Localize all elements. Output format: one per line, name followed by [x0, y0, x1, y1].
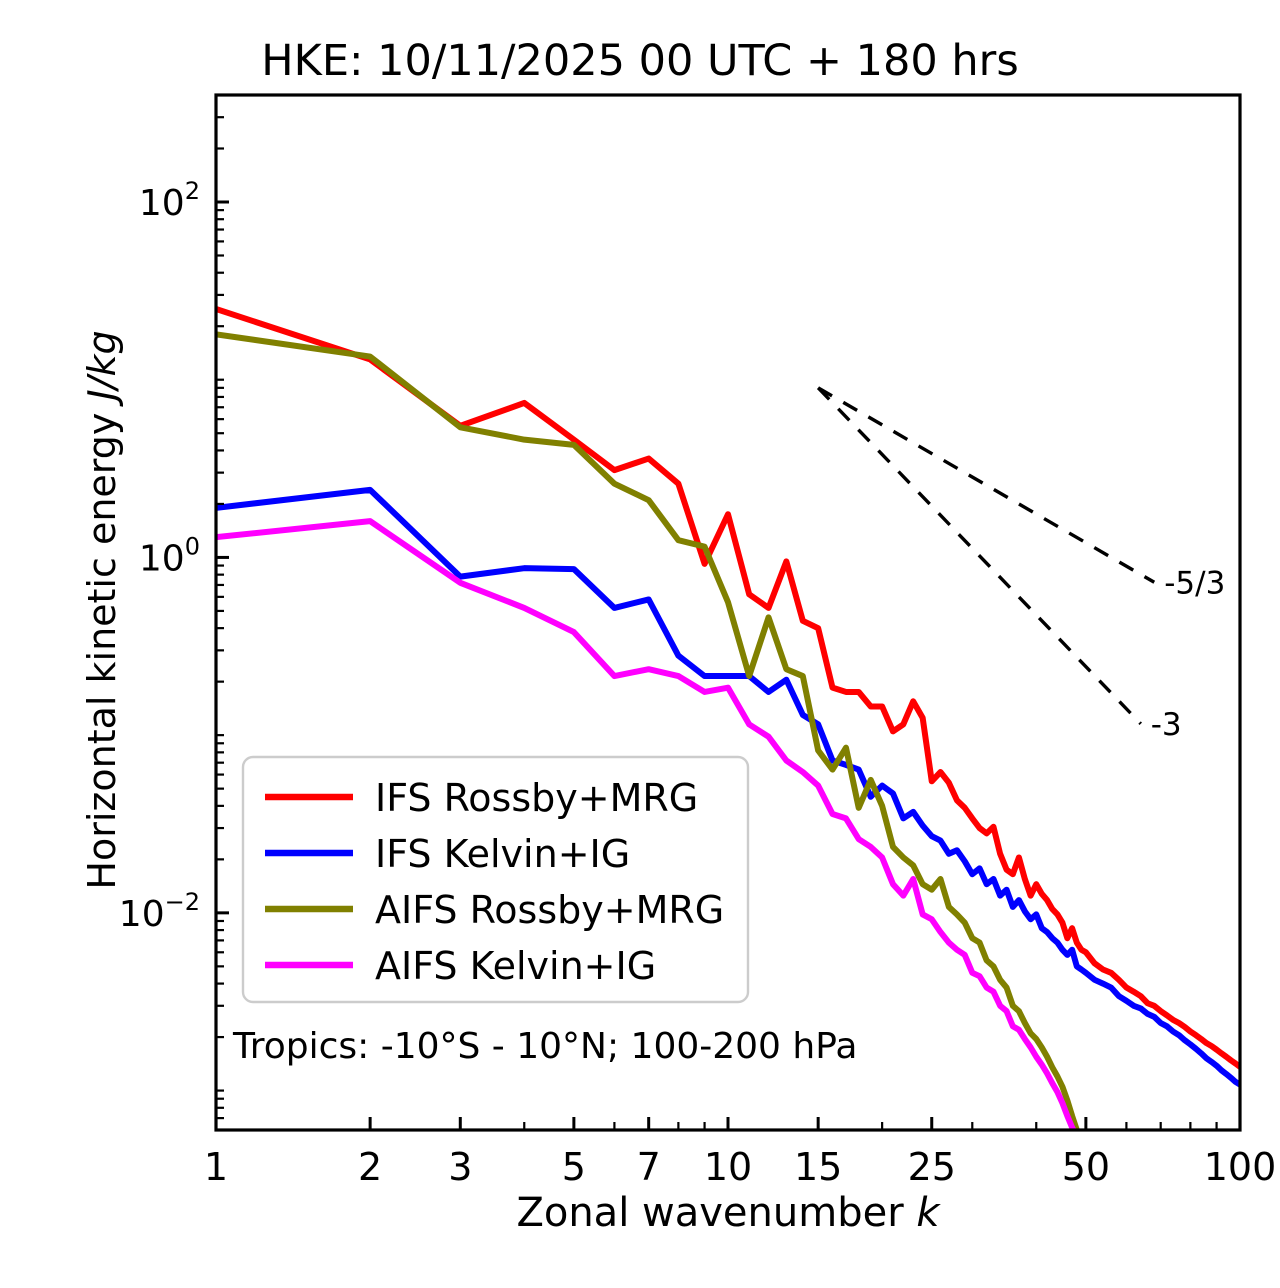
axes-group: 123571015255010010−2100102: [119, 95, 1276, 1189]
x-tick-label: 50: [1062, 1145, 1110, 1189]
reference-slope-group: -5/3-3: [818, 388, 1225, 743]
x-tick-label: 100: [1204, 1145, 1277, 1189]
reference-slope-label-0: -5/3: [1164, 565, 1225, 601]
x-tick-label: 5: [562, 1145, 586, 1189]
x-tick-label: 25: [908, 1145, 956, 1189]
chart-legend: IFS Rossby+MRGIFS Kelvin+IGAIFS Rossby+M…: [243, 757, 748, 1002]
y-tick-label: 102: [139, 177, 200, 224]
x-tick-label: 7: [637, 1145, 661, 1189]
x-tick-label: 1: [204, 1145, 228, 1189]
y-tick-label: 100: [139, 532, 200, 579]
x-tick-label: 15: [794, 1145, 842, 1189]
plot-area: -5/3-3 123571015255010010−2100102 IFS Ro…: [0, 0, 1280, 1288]
reference-slope-line--5-3: [818, 388, 1154, 582]
chart-figure: HKE: 10/11/2025 00 UTC + 180 hrs Horizon…: [0, 0, 1280, 1288]
region-annotation: Tropics: -10°S - 10°N; 100-200 hPa: [232, 1026, 857, 1067]
legend-label-1: IFS Kelvin+IG: [375, 832, 630, 876]
x-tick-label: 2: [358, 1145, 382, 1189]
reference-slope-line--3: [818, 388, 1141, 724]
reference-slope-label-1: -3: [1151, 707, 1182, 743]
legend-label-3: AIFS Kelvin+IG: [375, 944, 656, 988]
x-tick-label: 3: [448, 1145, 472, 1189]
region-annotation-text: Tropics: -10°S - 10°N; 100-200 hPa: [232, 1026, 857, 1067]
legend-label-0: IFS Rossby+MRG: [375, 776, 698, 820]
legend-label-2: AIFS Rossby+MRG: [375, 888, 724, 932]
y-tick-label: 10−2: [119, 888, 200, 935]
x-tick-label: 10: [704, 1145, 752, 1189]
